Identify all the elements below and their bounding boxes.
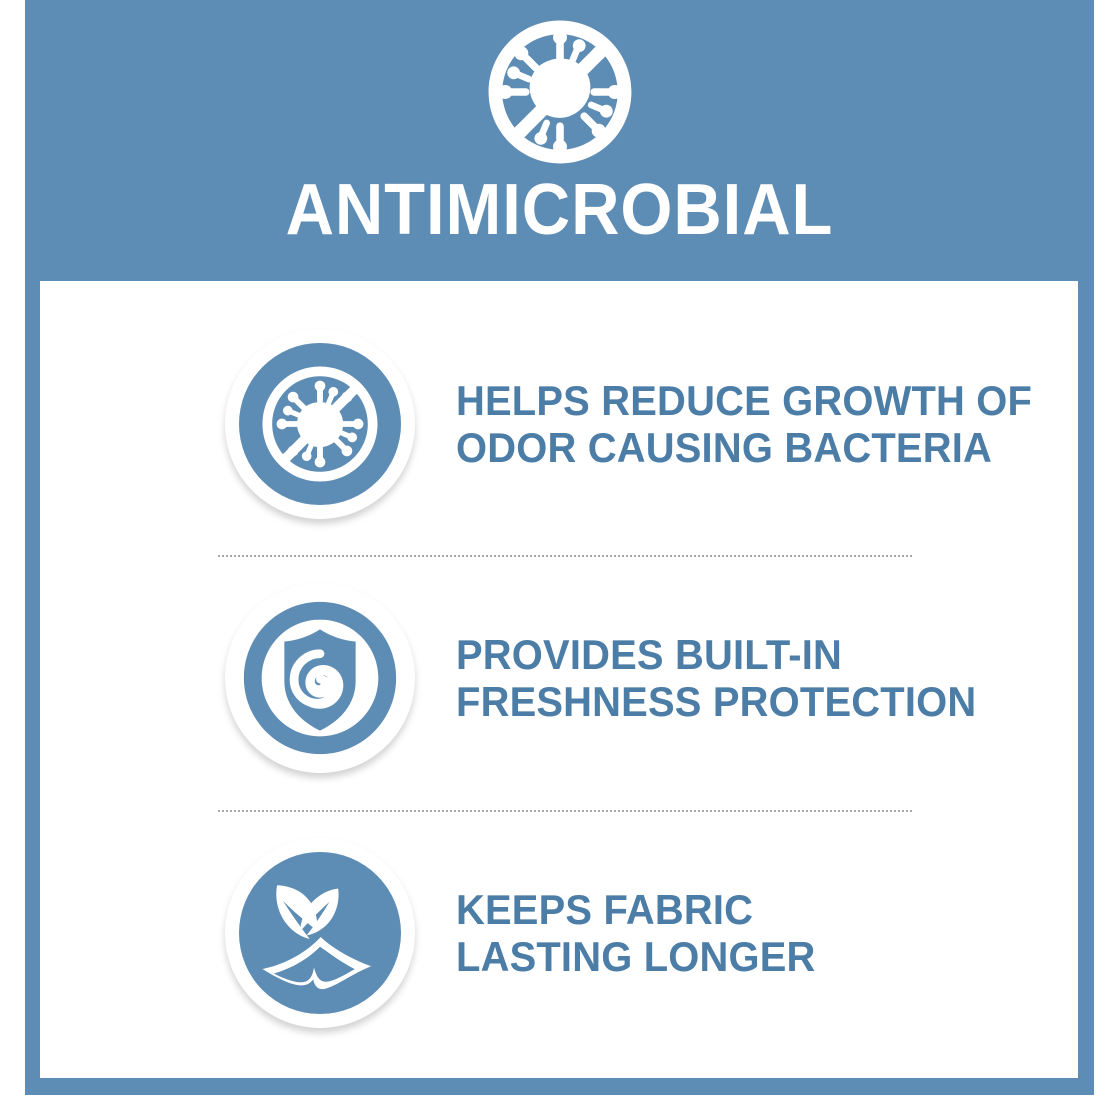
no-virus-icon	[239, 343, 401, 505]
shield-swirl-icon	[239, 597, 401, 759]
leaf-fabric-icon	[239, 852, 401, 1014]
header: ANTIMICROBIAL	[25, 0, 1094, 281]
infographic-canvas: ANTIMICROBIAL	[0, 0, 1120, 1120]
feature-icon-badge	[225, 838, 415, 1028]
feature-icon-badge	[225, 583, 415, 773]
feature-label: PROVIDES BUILT-IN FRESHNESS PROTECTION	[456, 631, 976, 725]
feature-icon-badge	[225, 329, 415, 519]
feature-label: KEEPS FABRIC LASTING LONGER	[456, 886, 816, 980]
feature-divider	[218, 555, 912, 559]
feature-divider	[218, 810, 912, 814]
feature-label: HELPS REDUCE GROWTH OF ODOR CAUSING BACT…	[456, 377, 1032, 471]
feature-row: HELPS REDUCE GROWTH OF ODOR CAUSING BACT…	[40, 310, 1078, 538]
feature-row: PROVIDES BUILT-IN FRESHNESS PROTECTION	[40, 564, 1078, 792]
feature-row: KEEPS FABRIC LASTING LONGER	[40, 819, 1078, 1047]
no-virus-icon	[484, 16, 636, 168]
page-title: ANTIMICROBIAL	[286, 174, 834, 246]
feature-list: HELPS REDUCE GROWTH OF ODOR CAUSING BACT…	[40, 281, 1078, 1078]
